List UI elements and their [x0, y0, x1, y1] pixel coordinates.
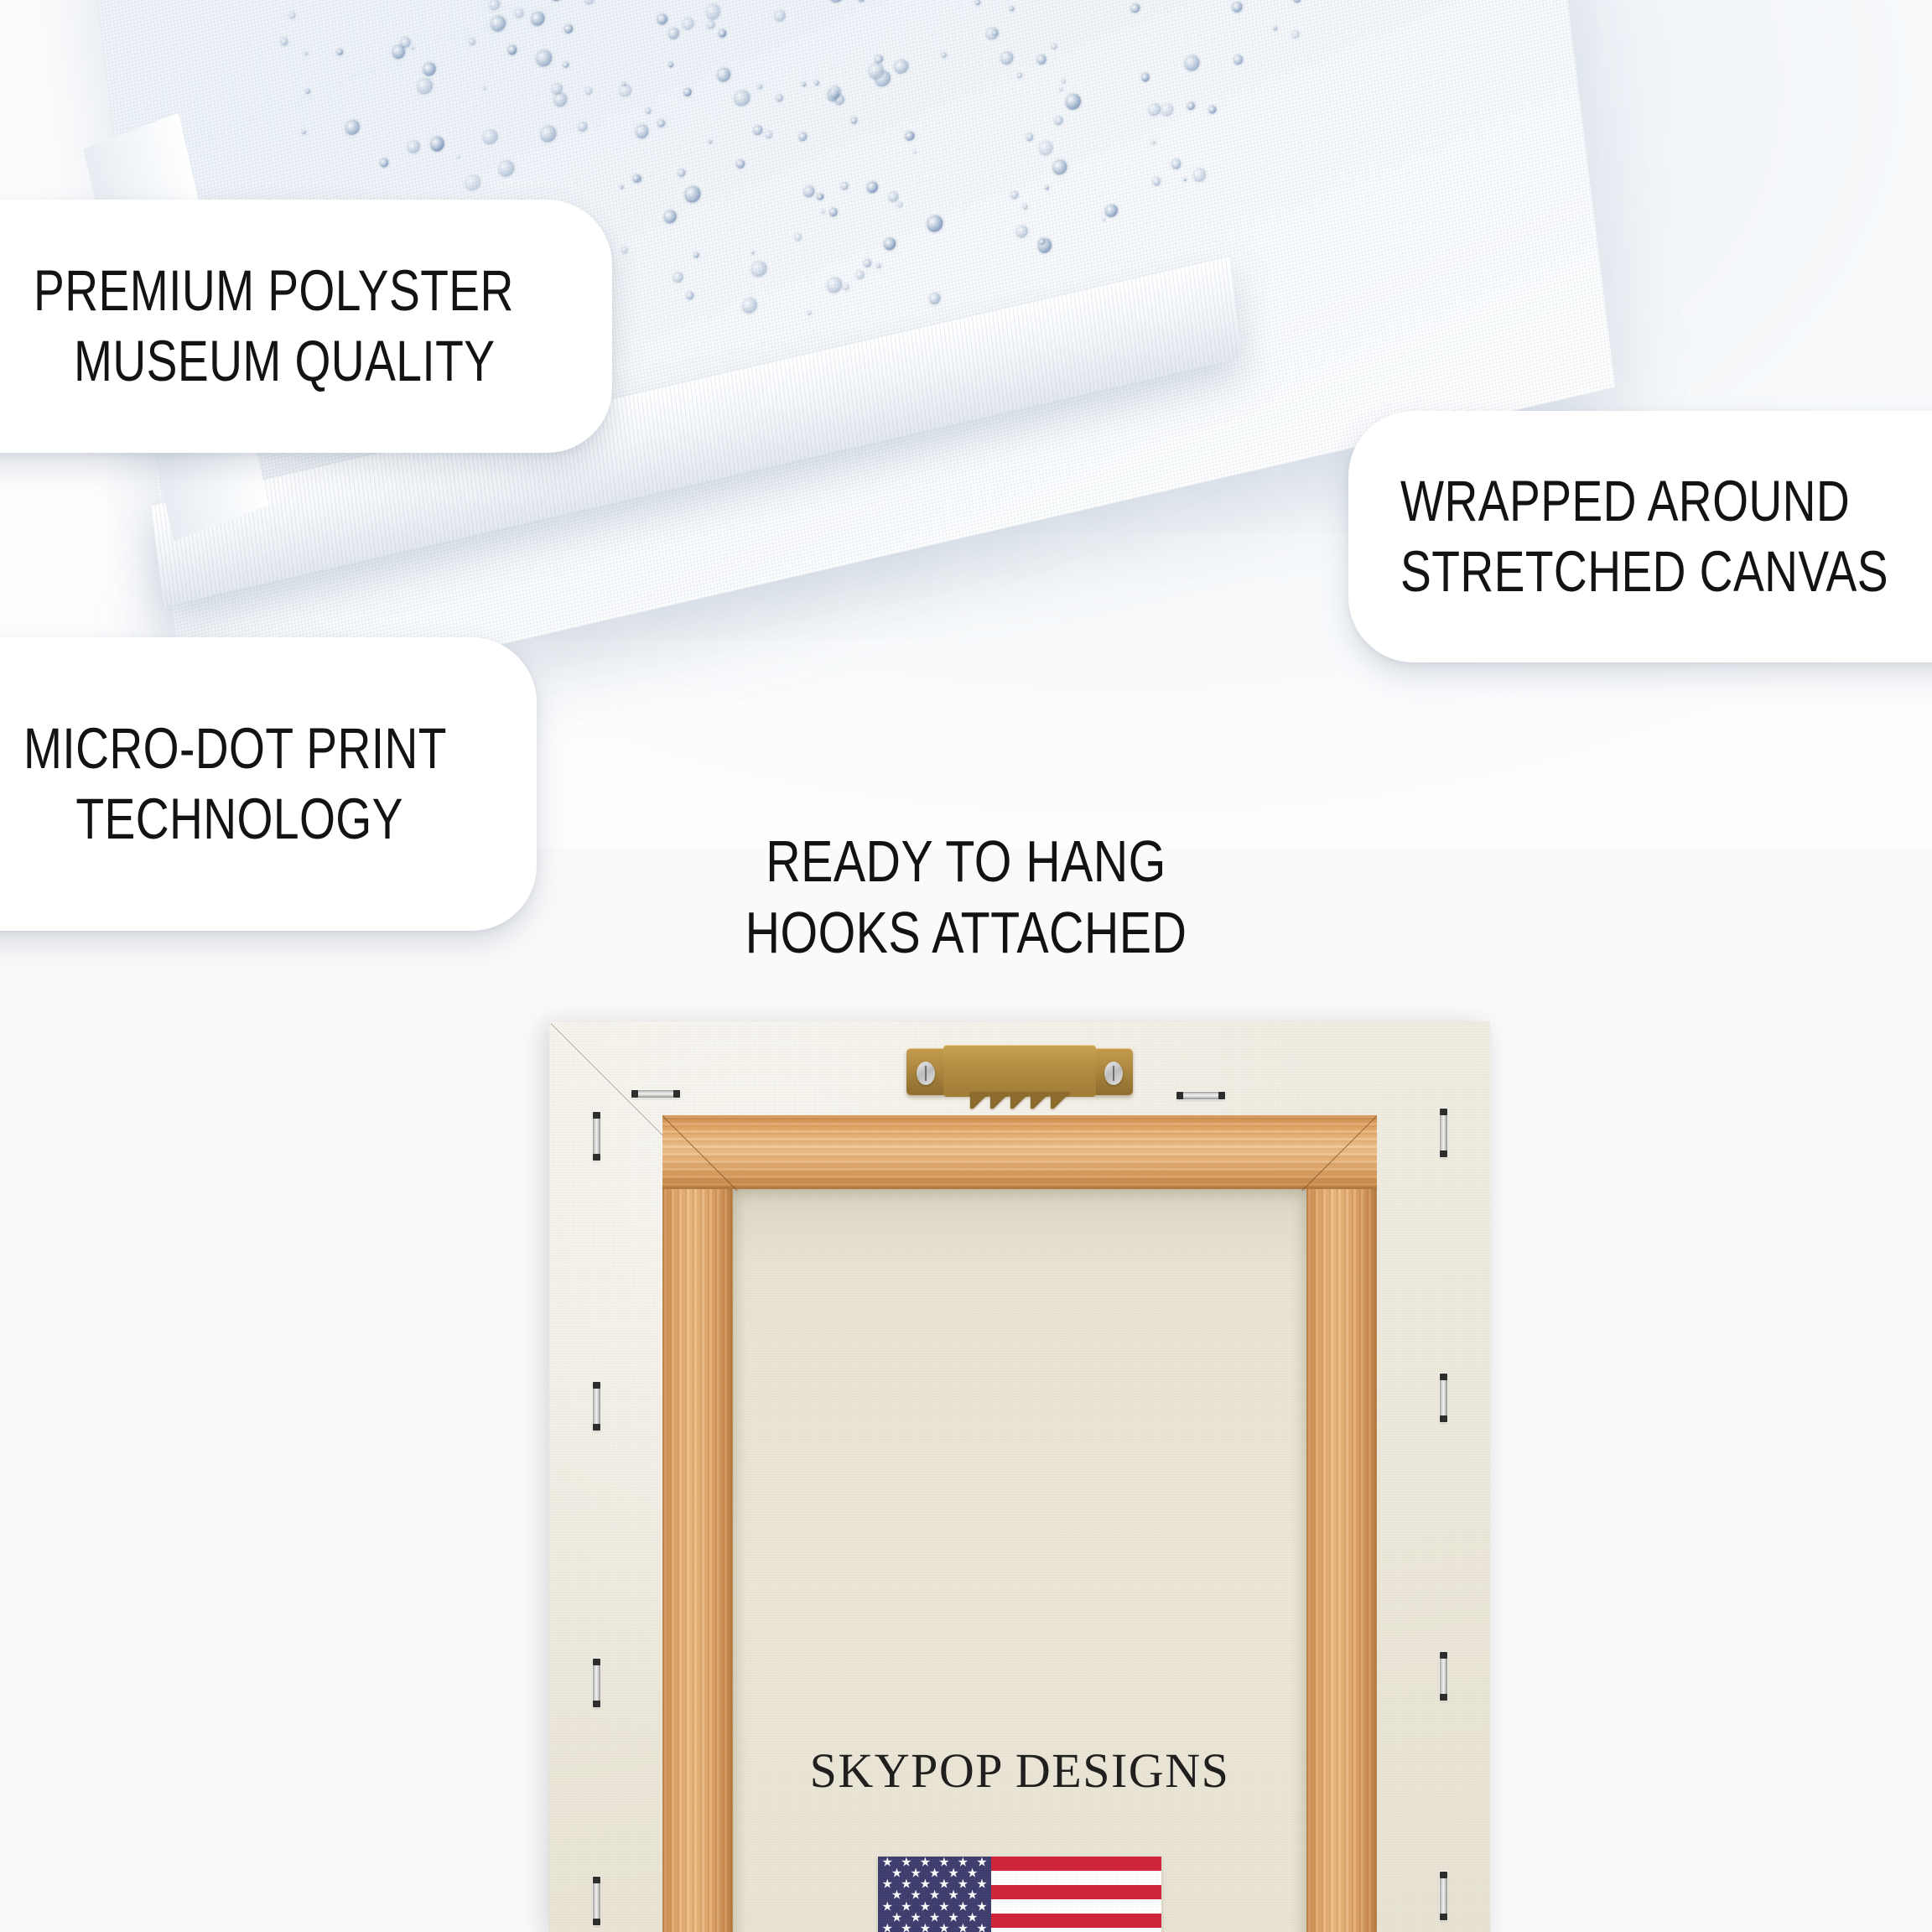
callout-premium-polyster: PREMIUM POLYSTER MUSEUM QUALITY — [0, 200, 612, 453]
callout-line-2: MUSEUM QUALITY — [74, 326, 501, 397]
flag-canton: ★★★★★★★★★★★★★★★★★★★★★★★★★★★★★★★★★★★★★★★★… — [878, 1857, 991, 1932]
callout-line-1: PREMIUM POLYSTER — [34, 256, 460, 326]
flag-star: ★ — [901, 1923, 911, 1932]
flag-star: ★ — [920, 1923, 931, 1932]
canvas-back-view: SKYPOP DESIGNS ★★★★★★★★★★★★★★★★★★★★★★★★★… — [549, 1021, 1490, 1932]
flag-star: ★ — [958, 1923, 969, 1932]
callout-line-1: WRAPPED AROUND — [1400, 466, 1872, 537]
callout-line-2: HOOKS ATTACHED — [174, 897, 1758, 969]
staple — [1440, 1872, 1447, 1920]
staple — [593, 1382, 600, 1431]
inner-canvas-back-panel: SKYPOP DESIGNS ★★★★★★★★★★★★★★★★★★★★★★★★★… — [733, 1189, 1306, 1932]
flag-star: ★ — [976, 1923, 987, 1932]
stretcher-bar-top — [662, 1115, 1377, 1189]
staple — [631, 1090, 680, 1098]
hanger-screw-right — [1104, 1062, 1123, 1085]
stretcher-mitre-top-right — [1301, 1115, 1377, 1191]
hanger-teeth — [970, 1092, 1071, 1109]
callout-line-2: STRETCHED CANVAS — [1400, 537, 1872, 607]
sawtooth-hanger-icon — [906, 1048, 1133, 1114]
flag-star: ★ — [882, 1923, 893, 1932]
callout-wrapped-around-stretched-canvas: WRAPPED AROUND STRETCHED CANVAS — [1348, 411, 1932, 662]
stretcher-mitre-top-left — [662, 1115, 738, 1191]
hanger-screw-left — [917, 1062, 935, 1085]
staple — [1440, 1374, 1447, 1422]
stretcher-bar-left — [662, 1115, 733, 1932]
flag-star: ★ — [938, 1923, 949, 1932]
hanger-body — [943, 1045, 1096, 1097]
wooden-stretcher-frame: SKYPOP DESIGNS ★★★★★★★★★★★★★★★★★★★★★★★★★… — [662, 1115, 1377, 1932]
staple — [593, 1877, 600, 1925]
callout-line-1: READY TO HANG — [174, 826, 1758, 897]
united-states-flag-icon: ★★★★★★★★★★★★★★★★★★★★★★★★★★★★★★★★★★★★★★★★… — [878, 1857, 1161, 1932]
staple — [1440, 1652, 1447, 1701]
staple — [593, 1112, 600, 1161]
brand-name: SKYPOP DESIGNS — [733, 1742, 1306, 1799]
callout-ready-to-hang: READY TO HANG HOOKS ATTACHED — [0, 826, 1932, 969]
callout-line-1: MICRO-DOT PRINT — [23, 714, 397, 784]
staple — [1176, 1092, 1225, 1099]
staple — [1440, 1109, 1447, 1157]
stretcher-bar-right — [1306, 1115, 1377, 1932]
staple — [593, 1659, 600, 1707]
infographic-canvas: PREMIUM POLYSTER MUSEUM QUALITY WRAPPED … — [0, 0, 1932, 1932]
